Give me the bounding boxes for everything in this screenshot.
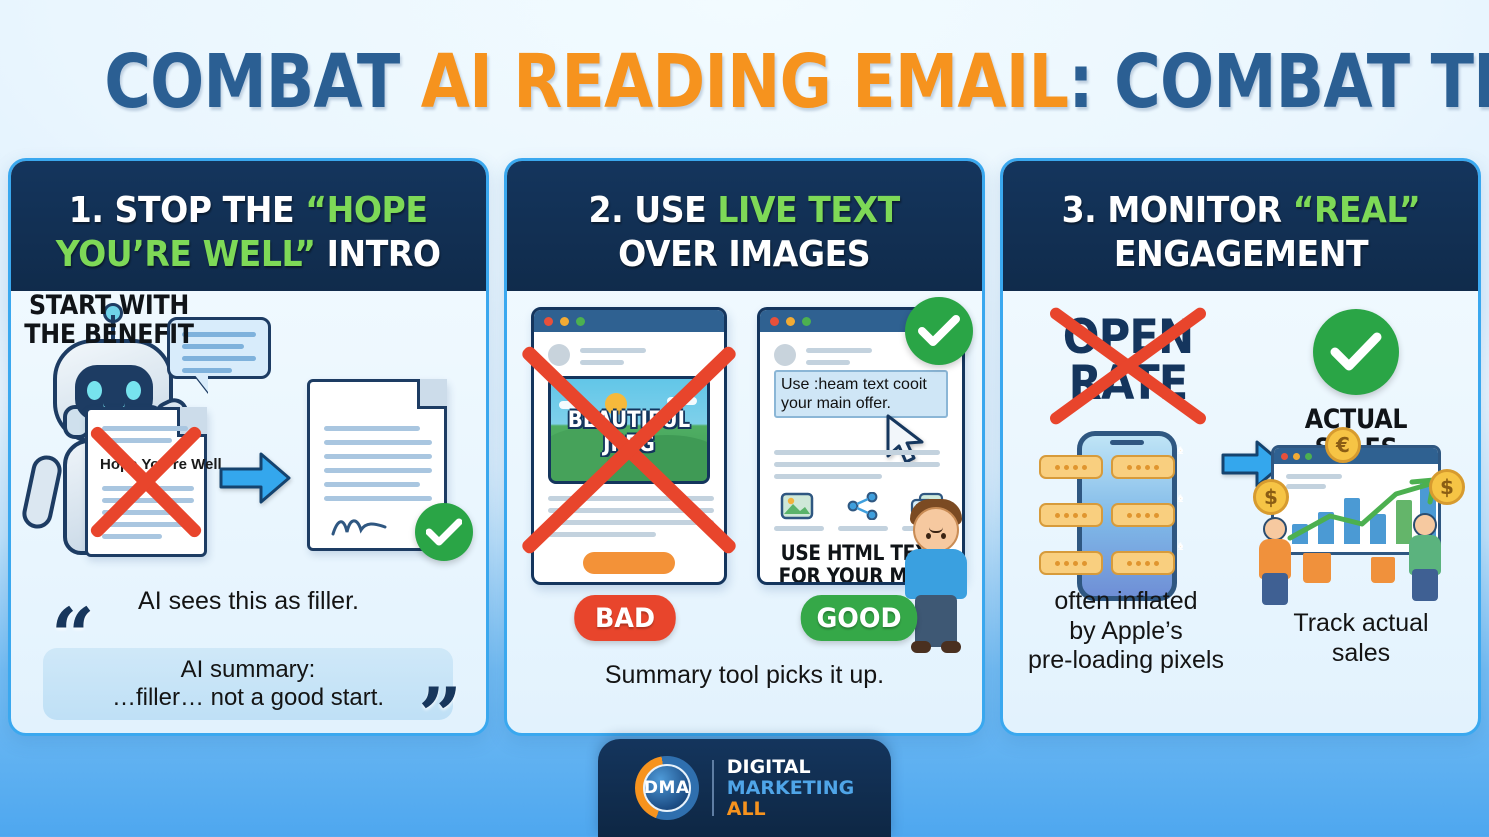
- card1-title-hi2: YOU’RE WELL”: [56, 234, 316, 275]
- open-rate-line-2: RATE: [1041, 361, 1216, 407]
- notification-bubble-right-3: 1: [1111, 551, 1175, 575]
- dot: [1127, 513, 1132, 518]
- bad-cta-button[interactable]: [583, 552, 675, 574]
- tip-card-2-caption: Summary tool picks it up.: [507, 661, 982, 691]
- transition-arrow-1: [219, 451, 291, 505]
- person-eye-right: [941, 533, 946, 539]
- bad-doc-line-4: [102, 498, 194, 503]
- dot: [1073, 561, 1078, 566]
- bad-browser-sub-line: [580, 360, 624, 365]
- robot-arm-left: [20, 453, 65, 532]
- tip-card-2-body: BEAUTIFUL JPEG: [507, 291, 982, 736]
- tip-card-1: 1. STOP THE “HOPE YOU’RE WELL” INTRO: [8, 158, 489, 736]
- dot: [1055, 465, 1060, 470]
- window-maximize-dot[interactable]: [1305, 453, 1312, 460]
- good-footer-line-1: [774, 526, 824, 531]
- tip-card-3-caption-left: often inflated by Apple’s pre-loading pi…: [1015, 587, 1237, 676]
- bad-body-line-3: [548, 520, 714, 525]
- person-shoe-right: [941, 641, 961, 653]
- shopper-man: [1407, 513, 1447, 581]
- good-body-line-1: [774, 450, 940, 455]
- card2-title-hi: LIVE TEXT: [718, 190, 900, 231]
- dot: [1136, 513, 1141, 518]
- dot: [1145, 513, 1150, 518]
- window-minimize-dot[interactable]: [786, 317, 795, 326]
- good-footer-line-2: [838, 526, 888, 531]
- good-browser-headline-line: [806, 348, 872, 353]
- tip-card-3: 3. MONITOR “REAL” ENGAGEMENT OPEN RATE: [1000, 158, 1481, 736]
- card3-title-hi: “REAL”: [1292, 190, 1420, 231]
- bad-doc-line-3: [102, 486, 194, 491]
- dma-monogram: DMA: [643, 764, 691, 812]
- tip-card-2: 2. USE LIVE TEXT OVER IMAGES: [504, 158, 985, 736]
- tip-card-3-caption-right: Track actual sales: [1258, 609, 1464, 668]
- dot: [1073, 513, 1078, 518]
- bad-doc-line-6: [102, 522, 194, 527]
- caption-left-line-1: often inflated: [1015, 587, 1237, 617]
- tips-card-row: 1. STOP THE “HOPE YOU’RE WELL” INTRO: [8, 158, 1481, 736]
- footer-brand-bar: DMA DIGITAL MARKETING ALL: [598, 739, 891, 837]
- bad-doc-line-2: [102, 438, 172, 443]
- dot: [1082, 513, 1087, 518]
- window-minimize-dot[interactable]: [1293, 453, 1300, 460]
- person-legs: [915, 595, 957, 647]
- dot: [1154, 465, 1159, 470]
- window-close-dot[interactable]: [1281, 453, 1288, 460]
- good-doc-line-5: [324, 482, 420, 487]
- shopping-bag-2: [1371, 557, 1395, 583]
- shopping-bag-1: [1303, 553, 1331, 583]
- caption-left-line-2: by Apple’s: [1015, 617, 1237, 647]
- footer-brand-line-2: MARKETING: [727, 778, 854, 799]
- shopper-woman-head: [1263, 517, 1287, 541]
- window-maximize-dot[interactable]: [576, 317, 585, 326]
- notification-badge-3: 1: [1178, 544, 1183, 549]
- open-rate-label: OPEN RATE: [1041, 315, 1216, 407]
- card2-title-post: OVER IMAGES: [618, 234, 870, 275]
- window-maximize-dot[interactable]: [802, 317, 811, 326]
- good-doc-line-6: [324, 496, 432, 501]
- robot-eye-right: [126, 381, 141, 400]
- card3-title-pre: 3. MONITOR: [1061, 190, 1292, 231]
- tip-card-3-header: 3. MONITOR “REAL” ENGAGEMENT: [1003, 161, 1478, 291]
- tip-card-1-header: 1. STOP THE “HOPE YOU’RE WELL” INTRO: [11, 161, 486, 291]
- bad-body-line-2: [548, 508, 714, 513]
- robot-eye-left: [87, 381, 102, 400]
- card1-title-pre: 1. STOP THE: [69, 190, 306, 231]
- start-with-benefit-label: START WITH THE BENEFIT: [23, 291, 195, 349]
- page-title: COMBAT AI READING EMAIL: COMBAT TIPS: [104, 34, 1385, 130]
- notification-bubble-left-2: [1039, 503, 1103, 527]
- footer-divider: [712, 760, 714, 816]
- notification-bubble-left-1: [1039, 455, 1103, 479]
- dot: [1064, 561, 1069, 566]
- bubble-line-3: [182, 356, 256, 361]
- good-doc-line-1: [324, 426, 420, 431]
- beautiful-jpeg-hero-image: BEAUTIFUL JPEG: [548, 376, 710, 484]
- footer-brand-line-1: DIGITAL: [727, 757, 854, 778]
- card1-title-hi1: “HOPE: [306, 190, 428, 231]
- dot: [1136, 561, 1141, 566]
- person-shoe-left: [911, 641, 931, 653]
- benefit-label-line-1: START WITH: [23, 291, 195, 320]
- dot: [1154, 561, 1159, 566]
- coin-dollar-left-icon: $: [1253, 479, 1289, 515]
- bad-doc-line-7: [102, 534, 162, 539]
- hero-text-line-1: BEAUTIFUL: [568, 408, 691, 433]
- dot: [1064, 465, 1069, 470]
- title-part-2: : COMBAT TIPS: [1068, 39, 1489, 125]
- person-torso: [905, 549, 967, 599]
- phone-notch: [1110, 440, 1144, 445]
- shopper-woman-legs: [1262, 573, 1288, 605]
- notification-bubble-right-1: 1: [1111, 455, 1175, 479]
- dot: [1154, 513, 1159, 518]
- good-browser-avatar: [774, 344, 796, 366]
- quote-line-1: AI summary:: [112, 656, 384, 684]
- notification-bubble-right-2: 1: [1111, 503, 1175, 527]
- benefit-label-line-2: THE BENEFIT: [23, 320, 195, 349]
- green-check-card-3: [1313, 309, 1399, 395]
- dot: [1055, 561, 1060, 566]
- dot: [1064, 513, 1069, 518]
- green-check-card-2: [905, 297, 973, 365]
- shopper-man-legs: [1412, 569, 1438, 601]
- dot: [1055, 513, 1060, 518]
- bad-doc-line-1: [102, 426, 188, 431]
- good-body-line-3: [774, 474, 882, 479]
- bad-badge: BAD: [574, 595, 676, 641]
- bad-body-line-1: [548, 496, 714, 501]
- bad-doc-title: Hope You’re Well: [100, 456, 222, 473]
- share-icon: [846, 492, 880, 520]
- doc-fold-corner: [177, 407, 207, 437]
- good-doc-line-3: [324, 454, 432, 459]
- card3-title-post: ENGAGEMENT: [1113, 234, 1367, 275]
- green-check-card-1: [415, 503, 473, 561]
- dot: [1073, 465, 1078, 470]
- tip-card-3-body: OPEN RATE 1: [1003, 291, 1478, 736]
- shopper-woman: [1257, 517, 1297, 581]
- good-doc-fold-corner: [417, 379, 447, 409]
- hero-image-text: BEAUTIFUL JPEG: [559, 409, 699, 457]
- window-close-dot[interactable]: [544, 317, 553, 326]
- bubble-line-4: [182, 368, 232, 373]
- dot: [1145, 561, 1150, 566]
- signature-squiggle: [330, 514, 388, 540]
- coin-euro-icon: €: [1325, 427, 1361, 463]
- bad-browser-headline-line: [580, 348, 646, 353]
- hero-text-line-2: JPEG: [603, 432, 655, 457]
- title-part-1: COMBAT: [104, 39, 421, 125]
- person-illustration: [905, 491, 971, 661]
- person-eye-left: [926, 533, 931, 539]
- footer-brand-text: DIGITAL MARKETING ALL: [727, 757, 854, 820]
- bad-email-document: Hope You’re Well: [85, 407, 207, 557]
- bad-browser-titlebar: [534, 310, 724, 332]
- good-browser-sub-line: [806, 360, 850, 365]
- image-icon: [780, 492, 814, 520]
- footer-brand-line-3: ALL: [727, 799, 854, 820]
- good-doc-line-4: [324, 468, 432, 473]
- card2-title-pre: 2. USE: [589, 190, 718, 231]
- quote-line-2: …filler… not a good start.: [112, 684, 384, 712]
- tip-card-1-body: Hope You’re Well START WITH THE BENEFIT: [11, 291, 486, 736]
- cloud-right: [667, 397, 697, 405]
- open-rate-line-1: OPEN: [1041, 315, 1216, 361]
- caption-left-line-3: pre-loading pixels: [1015, 646, 1237, 676]
- good-doc-line-2: [324, 440, 432, 445]
- dot: [1127, 561, 1132, 566]
- notification-bubble-left-3: [1039, 551, 1103, 575]
- window-minimize-dot[interactable]: [560, 317, 569, 326]
- caption-right-line-2: sales: [1258, 639, 1464, 669]
- good-body-line-2: [774, 462, 940, 467]
- bad-email-browser-mockup: BEAUTIFUL JPEG: [531, 307, 727, 585]
- dot: [1082, 561, 1087, 566]
- dot: [1082, 465, 1087, 470]
- title-highlight: AI READING EMAIL: [421, 39, 1068, 125]
- bad-doc-line-5: [102, 510, 182, 515]
- ai-summary-quote-box: AI summary: …filler… not a good start.: [43, 648, 453, 720]
- bad-body-line-4: [548, 532, 656, 537]
- caption-right-line-1: Track actual: [1258, 609, 1464, 639]
- notification-badge-2: 1: [1178, 496, 1183, 501]
- quote-close-mark: ”: [418, 678, 462, 736]
- good-badge: GOOD: [801, 595, 918, 641]
- dot: [1127, 465, 1132, 470]
- shopper-man-head: [1413, 513, 1437, 537]
- selected-html-text[interactable]: Use :heam text cooit your main offer.: [774, 370, 948, 418]
- tip-card-2-header: 2. USE LIVE TEXT OVER IMAGES: [507, 161, 982, 291]
- dot: [1136, 465, 1141, 470]
- window-close-dot[interactable]: [770, 317, 779, 326]
- coin-dollar-right-icon: $: [1429, 469, 1465, 505]
- bad-browser-avatar: [548, 344, 570, 366]
- notification-badge-1: 1: [1178, 448, 1183, 453]
- card1-title-post: INTRO: [316, 234, 441, 275]
- dma-logo-icon: DMA: [635, 756, 699, 820]
- mouse-cursor-icon: [884, 414, 928, 466]
- dot: [1145, 465, 1150, 470]
